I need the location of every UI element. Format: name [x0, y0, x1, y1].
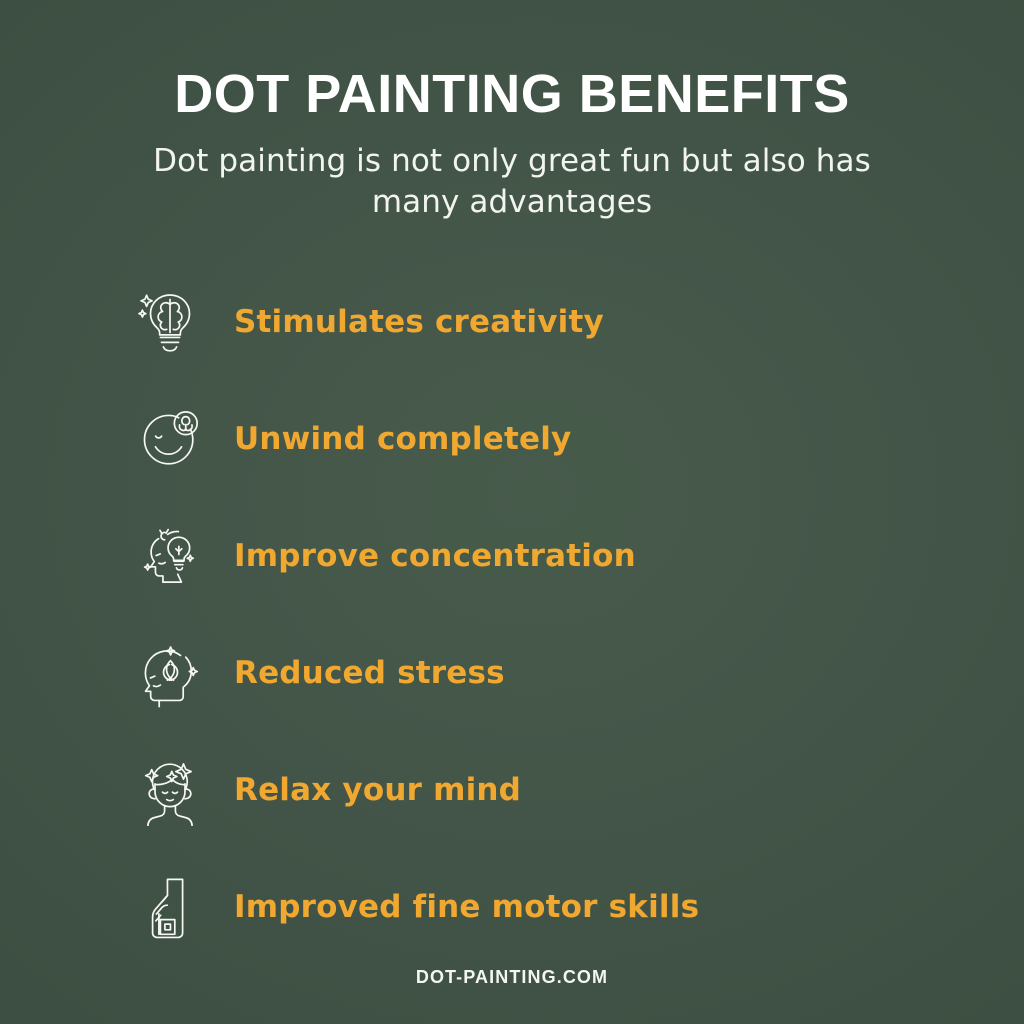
list-item: Relax your mind: [0, 746, 1024, 834]
head-lotus-icon: [132, 635, 208, 711]
poster-canvas: DOT PAINTING BENEFITS Dot painting is no…: [0, 0, 1024, 1024]
page-subtitle: Dot painting is not only great fun but a…: [142, 141, 882, 223]
smiley-flower-icon: [132, 401, 208, 477]
list-item-label: Improved fine motor skills: [234, 889, 699, 925]
list-item: Reduced stress: [0, 629, 1024, 717]
list-item-label: Reduced stress: [234, 655, 505, 691]
website-url: DOT-PAINTING.COM: [416, 967, 608, 987]
benefits-list: Stimulates creativity Unwind completely: [0, 278, 1024, 951]
poster-header: DOT PAINTING BENEFITS Dot painting is no…: [0, 0, 1024, 223]
calm-face-sparkles-icon: [132, 752, 208, 828]
head-lightbulb-icon: [132, 518, 208, 594]
list-item-label: Stimulates creativity: [234, 304, 604, 340]
hand-holding-tool-icon: [132, 869, 208, 945]
list-item: Improved fine motor skills: [0, 863, 1024, 951]
list-item-label: Relax your mind: [234, 772, 521, 808]
page-title: DOT PAINTING BENEFITS: [0, 66, 1024, 123]
list-item: Unwind completely: [0, 395, 1024, 483]
list-item: Stimulates creativity: [0, 278, 1024, 366]
poster-footer: DOT-PAINTING.COM: [0, 967, 1024, 988]
list-item-label: Improve concentration: [234, 538, 636, 574]
list-item: Improve concentration: [0, 512, 1024, 600]
brain-lightbulb-icon: [132, 284, 208, 360]
list-item-label: Unwind completely: [234, 421, 571, 457]
